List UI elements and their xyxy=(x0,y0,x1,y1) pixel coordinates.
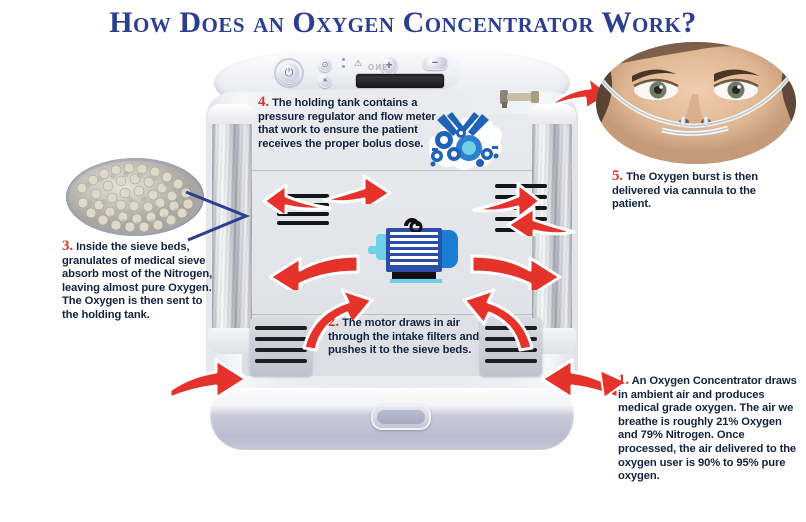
callout-3-text: Inside the sieve beds, granulates of med… xyxy=(62,241,212,321)
sieve-bed-cap-left xyxy=(208,104,256,124)
page-title: How Does an Oxygen Concentrator Work? xyxy=(0,6,806,40)
patient-face-illustration xyxy=(596,42,796,164)
alarm-warning-icon: ⚠ xyxy=(346,55,370,71)
sieve-granules-photo xyxy=(66,158,204,236)
sieve-bed-foot-left xyxy=(208,328,256,354)
airflow-arrow-motor-to-left-sieve xyxy=(268,248,360,290)
status-led-upper xyxy=(342,58,345,61)
status-led-lower xyxy=(342,65,345,68)
granules-photo-rim xyxy=(67,159,203,235)
callout-5-text: The Oxygen burst is then delivered via c… xyxy=(612,171,758,210)
brightness-icon: ☀ xyxy=(321,77,328,85)
infographic-canvas: How Does an Oxygen Concentrator Work? ⏻ … xyxy=(0,0,806,522)
airflow-arrow-right-sieve-to-tank xyxy=(506,198,576,236)
power-button[interactable]: ⏻ xyxy=(278,62,300,84)
patient-with-cannula-photo xyxy=(596,42,796,164)
display-screen xyxy=(356,74,444,88)
oxygen-outlet-nozzle xyxy=(500,84,546,108)
callout-4-text: The holding tank contains a pressure reg… xyxy=(258,97,436,150)
airflow-arrow-left-sieve-to-tank xyxy=(322,166,392,204)
decrease-button[interactable]: − xyxy=(422,56,448,70)
bell-alarm-button[interactable]: ⊙ xyxy=(318,58,332,72)
callout-5-number: 5. xyxy=(612,168,623,184)
bell-icon: ⊙ xyxy=(322,61,329,69)
brand-label: ONE xyxy=(368,62,389,71)
motor-icon xyxy=(368,212,464,288)
callout-1-number: 1. xyxy=(618,372,629,388)
callout-4: 4. The holding tank contains a pressure … xyxy=(258,96,438,151)
callout-5: 5. The Oxygen burst is then delivered vi… xyxy=(612,170,790,212)
control-panel: ⏻ ⊙ ☀ ⚠ + − ONE xyxy=(272,50,462,90)
brightness-button[interactable]: ☀ xyxy=(318,74,332,88)
callout-2-text: The motor draws in air through the intak… xyxy=(328,317,479,356)
callout-1: 1. An Oxygen Concentrator draws in ambie… xyxy=(618,374,800,484)
power-icon: ⏻ xyxy=(285,68,294,79)
base-latch[interactable] xyxy=(371,404,431,430)
airflow-arrow-intake-lower-left xyxy=(168,352,248,398)
minus-icon: − xyxy=(432,58,438,69)
callout-3-number: 3. xyxy=(62,238,73,254)
callout-4-number: 4. xyxy=(258,94,269,110)
callout-2: 2. The motor draws in air through the in… xyxy=(328,316,496,358)
airflow-arrow-motor-to-right-sieve xyxy=(470,248,562,290)
callout-3: 3. Inside the sieve beds, granulates of … xyxy=(62,240,220,323)
callout-2-number: 2. xyxy=(328,314,339,330)
callout-1-text: An Oxygen Concentrator draws in ambient … xyxy=(618,375,797,482)
